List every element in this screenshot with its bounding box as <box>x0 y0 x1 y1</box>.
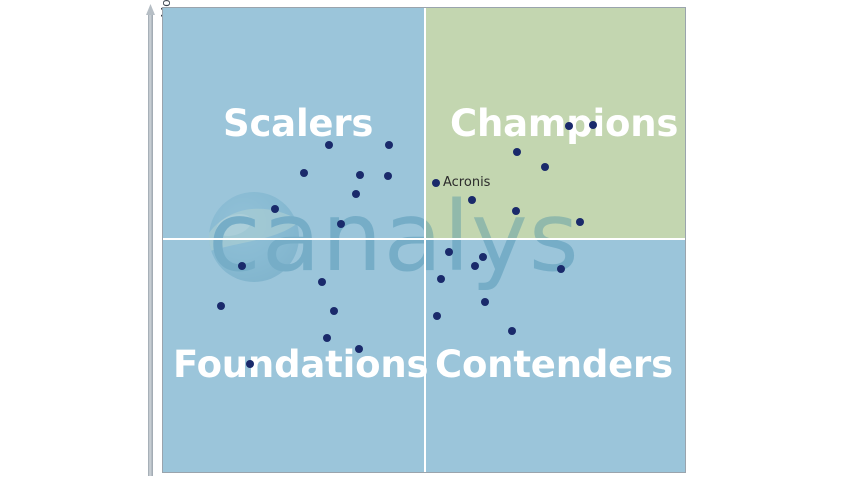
data-point <box>385 141 393 149</box>
data-point <box>541 163 549 171</box>
data-point <box>356 171 364 179</box>
vertical-divider <box>424 8 426 473</box>
quadrant-title-contenders: Contenders <box>435 346 673 383</box>
data-point <box>479 253 487 261</box>
data-point <box>384 172 392 180</box>
momentum-axis-arrow <box>146 4 155 476</box>
data-point <box>271 205 279 213</box>
momentum-axis-label-wrap: Momentum <box>105 0 145 140</box>
matrix-plot-area: canalys Scalers Champions Foundations Co… <box>162 7 686 473</box>
quadrant-title-champions: Champions <box>450 105 678 142</box>
data-point <box>330 307 338 315</box>
data-point <box>352 190 360 198</box>
data-point <box>323 334 331 342</box>
data-point-label-acronis: Acronis <box>443 175 490 190</box>
quadrant-title-foundations: Foundations <box>173 346 428 383</box>
leadership-matrix-chart: Momentum <box>0 0 854 480</box>
data-point <box>433 312 441 320</box>
quadrant-title-scalers: Scalers <box>223 105 373 142</box>
horizontal-divider <box>163 238 686 240</box>
data-point <box>508 327 516 335</box>
data-point <box>437 275 445 283</box>
data-point <box>318 278 326 286</box>
data-point <box>246 360 254 368</box>
data-point <box>565 122 573 130</box>
data-point <box>300 169 308 177</box>
data-point <box>471 262 479 270</box>
